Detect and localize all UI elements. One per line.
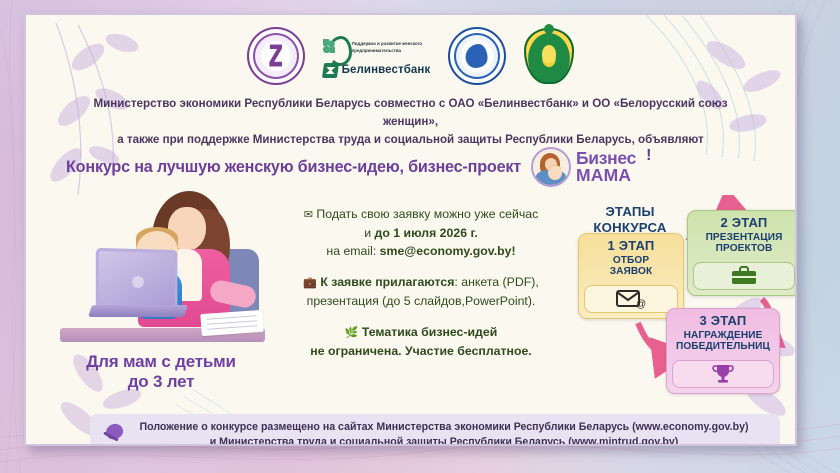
briefcase-icon — [693, 262, 795, 290]
topics-line-2: не ограничена. Участие бесплатное. — [271, 342, 571, 360]
application-line-2-prefix: и — [364, 226, 374, 240]
illustration-caption-line-2: до 3 лет — [52, 372, 270, 392]
stage-2-sub-line-2: ПРОЕКТОВ — [694, 243, 794, 254]
page-title: Конкурс на лучшую женскую бизнес-идею, б… — [66, 158, 521, 177]
note-line-2: и Министерства труда и социальной защиты… — [130, 435, 758, 446]
ministry-seal-purple-icon — [247, 27, 305, 85]
application-line-3-prefix: на email: — [326, 244, 379, 258]
belinvestbank-mark-icon — [322, 63, 339, 78]
poster-card: Поддержка и развитие женского предприним… — [24, 13, 797, 446]
belarusian-womens-union-seal-icon — [448, 27, 506, 85]
envelope-icon: ✉ — [304, 209, 313, 221]
belinvestbank-logo: Поддержка и развитие женского предприним… — [323, 35, 431, 78]
stages-heading-line-1: ЭТАПЫ — [582, 204, 678, 220]
poster-screenshot: Поддержка и развитие женского предприним… — [0, 0, 840, 473]
application-deadline: до 1 июля 2026 г. — [375, 226, 478, 240]
stage-3-sub-line-2: ПОБЕДИТЕЛЬНИЦ — [673, 341, 773, 352]
stage-1-number: 1 ЭТАП — [585, 238, 677, 253]
stage-3-sub-line-1: НАГРАЖДЕНИЕ — [673, 330, 773, 341]
attachments-label: К заявке прилагаются — [320, 275, 454, 289]
mother-baby-avatar-icon — [531, 147, 571, 187]
ministry-of-labour-logo — [524, 28, 574, 84]
pushpin-icon — [100, 422, 130, 446]
bottom-note: Положение о конкурсе размещено на сайтах… — [90, 414, 780, 446]
svg-text:@: @ — [636, 299, 646, 309]
trophy-icon — [672, 360, 774, 388]
stage-card-2[interactable]: 2 ЭТАП ПРЕЗЕНТАЦИЯ ПРОЕКТОВ — [687, 210, 797, 296]
topics-line-1: Тематика бизнес-идей — [362, 325, 497, 339]
ministry-of-labour-emblem-icon — [524, 28, 574, 84]
mother-with-laptop-illustration — [60, 187, 265, 352]
illustration-caption: Для мам с детьми до 3 лет — [52, 352, 270, 391]
info-block-topics: 🌿 Тематика бизнес-идей не ограничена. Уч… — [271, 323, 571, 360]
organizers-line-1: Министерство экономики Республики Белару… — [66, 95, 755, 131]
illustration-caption-line-1: Для мам с детьми — [52, 352, 270, 372]
email-at-icon: @ — [584, 285, 678, 313]
organizers-text: Министерство экономики Республики Белару… — [66, 95, 755, 149]
stages-heading: ЭТАПЫ КОНКУРСА — [582, 204, 678, 235]
belarusian-womens-union-logo — [448, 27, 506, 85]
attachments-line-2: презентация (до 5 слайдов,PowerPoint). — [271, 292, 571, 310]
stage-card-1[interactable]: 1 ЭТАП ОТБОР ЗАЯВОК @ — [578, 233, 684, 319]
ministry-seal-purple-logo — [247, 27, 305, 85]
stage-2-number: 2 ЭТАП — [694, 215, 794, 230]
stage-2-sub-line-1: ПРЕЗЕНТАЦИЯ — [694, 232, 794, 243]
application-line-1: Подать свою заявку можно уже сейчас — [316, 207, 538, 221]
info-block-application: ✉ Подать свою заявку можно уже сейчас и … — [271, 205, 571, 260]
stage-card-3[interactable]: 3 ЭТАП НАГРАЖДЕНИЕ ПОБЕДИТЕЛЬНИЦ — [666, 308, 780, 394]
stage-3-number: 3 ЭТАП — [673, 313, 773, 328]
logo-row: Поддержка и развитие женского предприним… — [26, 25, 795, 87]
application-email: sme@economy.gov.by! — [380, 244, 516, 258]
stage-1-sub-line-1: ОТБОР — [585, 255, 677, 266]
belinvestbank-leaf-icon — [323, 35, 347, 61]
leaf-icon: 🌿 — [345, 327, 359, 339]
biznes-mama-logo: Бизнес МАМА — [531, 147, 636, 187]
belinvestbank-slogan: Поддержка и развитие женского предприним… — [352, 41, 430, 54]
title-row: Конкурс на лучшую женскую бизнес-идею, б… — [66, 147, 777, 187]
briefcase-icon: 💼 — [303, 277, 317, 289]
brand-line-2: МАМА — [576, 167, 636, 184]
attachments-line-1-rest: : анкета (PDF), — [454, 275, 538, 289]
info-block-attachments: 💼 К заявке прилагаются: анкета (PDF), пр… — [271, 273, 571, 310]
note-line-1: Положение о конкурсе размещено на сайтах… — [130, 420, 758, 435]
belinvestbank-name: Белинвестбанк — [342, 64, 431, 76]
stage-1-sub-line-2: ЗАЯВОК — [585, 266, 677, 277]
exclamation-mark: ! — [646, 147, 651, 165]
info-blocks: ✉ Подать свою заявку можно уже сейчас и … — [271, 205, 571, 373]
